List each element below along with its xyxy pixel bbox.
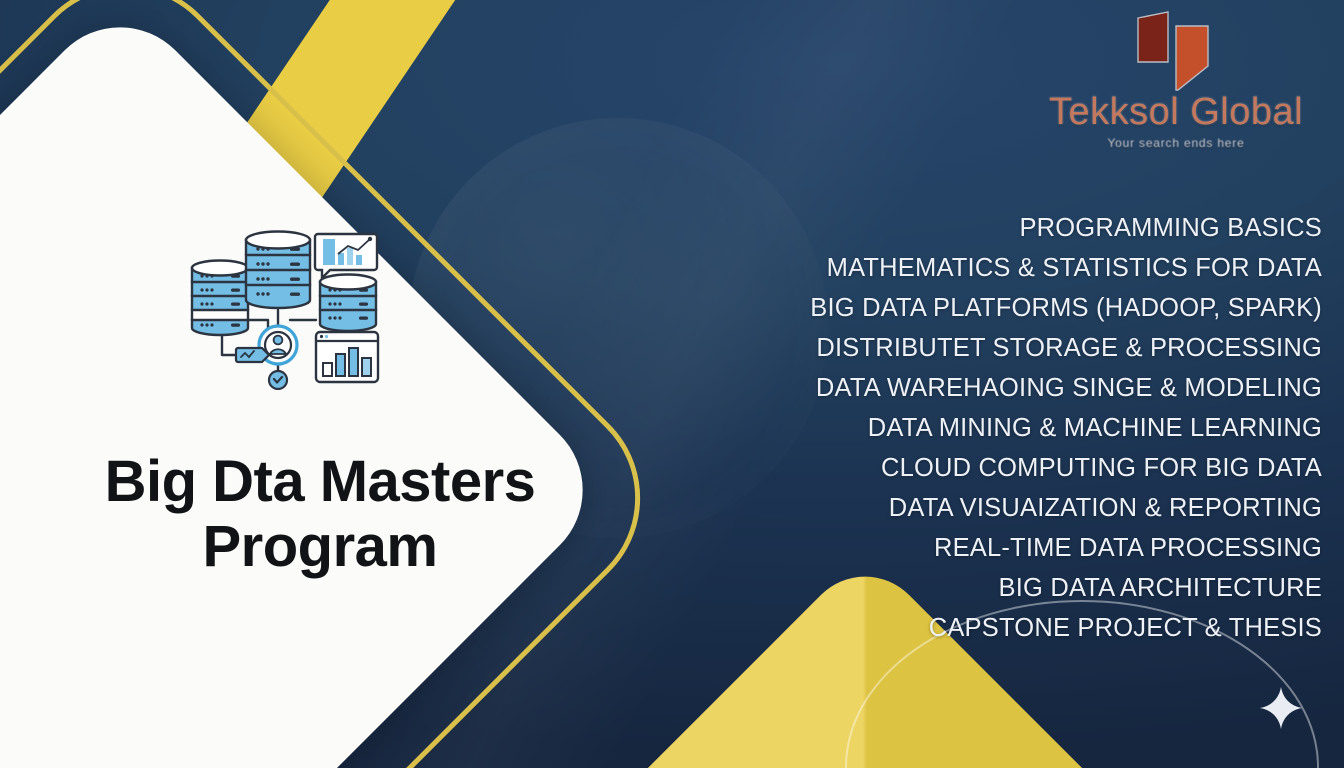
bar-chart-window — [316, 332, 378, 382]
database-cylinder-left — [192, 261, 248, 336]
list-item: BIG DATA ARCHITECTURE — [762, 568, 1322, 608]
list-item: PROGRAMMING BASICS — [762, 208, 1322, 248]
database-cylinder-right — [320, 275, 376, 332]
big-data-architecture-illustration — [168, 220, 388, 390]
database-cylinder-center — [246, 232, 310, 309]
headline-line-2: Program — [0, 515, 640, 580]
check-badge — [269, 371, 287, 389]
tekksol-logo-mark-icon — [1116, 10, 1236, 95]
list-item: BIG DATA PLATFORMS (HADOOP, SPARK) — [762, 288, 1322, 328]
list-item: REAL-TIME DATA PROCESSING — [762, 528, 1322, 568]
headline-line-1: Big Dta Masters — [0, 450, 640, 515]
page-title: Big Dta Masters Program — [0, 450, 640, 580]
curriculum-list: PROGRAMMING BASICS MATHEMATICS & STATIST… — [762, 208, 1322, 648]
list-item: CLOUD COMPUTING FOR BIG DATA — [762, 448, 1322, 488]
sparkle-icon — [1258, 685, 1304, 731]
analytics-speech-bubble — [315, 234, 377, 278]
logo-tagline: Your search ends here — [1026, 136, 1326, 150]
list-item: CAPSTONE PROJECT & THESIS — [762, 608, 1322, 648]
hero-content: Big Dta Masters Program — [0, 150, 660, 710]
brand-logo: Tekksol Global Your search ends here — [1026, 10, 1326, 170]
list-item: DATA WAREHAOING SINGE & MODELING — [762, 368, 1322, 408]
logo-wordmark: Tekksol Global — [1026, 91, 1326, 134]
list-item: DISTRIBUTET STORAGE & PROCESSING — [762, 328, 1322, 368]
list-item: DATA MINING & MACHINE LEARNING — [762, 408, 1322, 448]
list-item: MATHEMATICS & STATISTICS FOR DATA — [762, 248, 1322, 288]
poster-canvas: Big Dta Masters Program Tekksol Global Y… — [0, 0, 1344, 768]
list-item: DATA VISUAIZATION & REPORTING — [762, 488, 1322, 528]
tag-chip — [236, 348, 269, 362]
